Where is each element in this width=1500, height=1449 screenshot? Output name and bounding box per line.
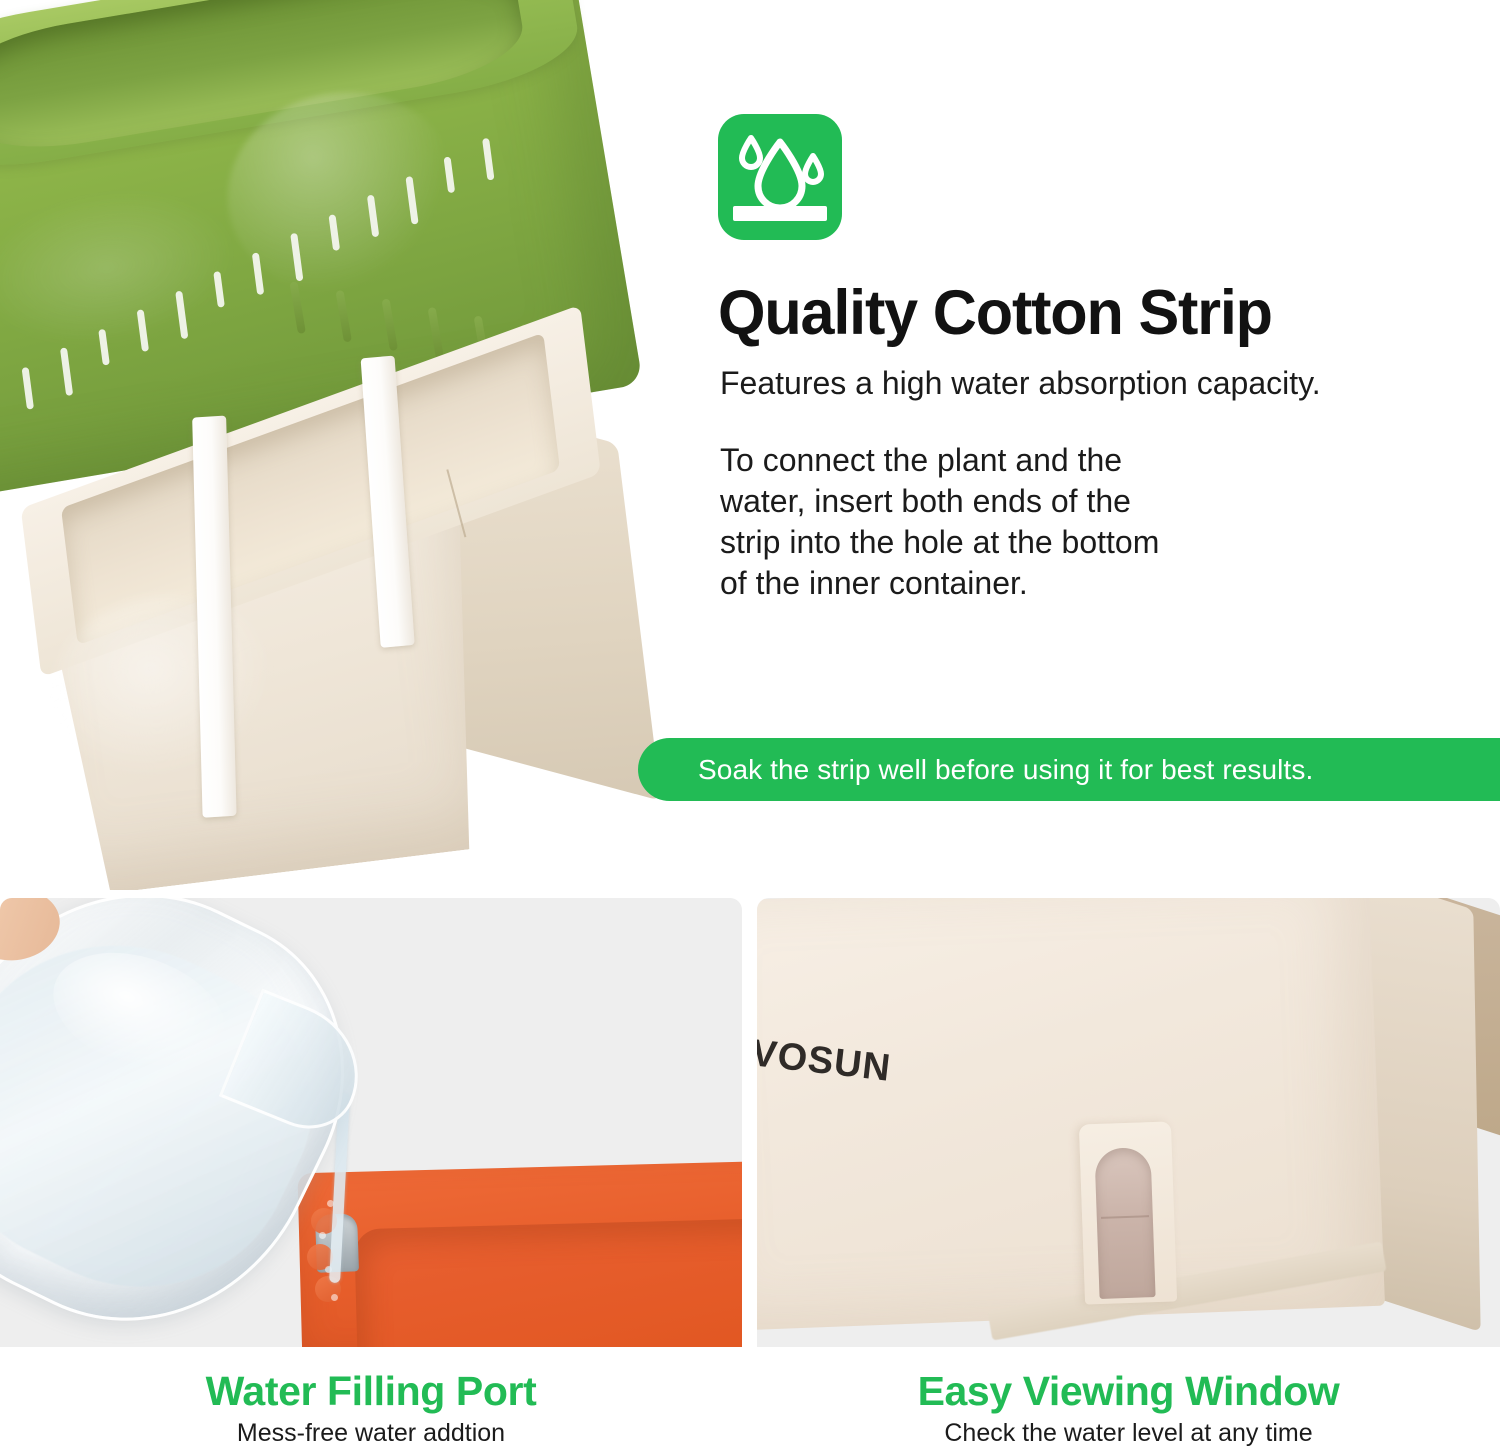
caption-subtitle: Check the water level at any time — [757, 1418, 1500, 1448]
cream-inner-container — [0, 309, 660, 890]
feature-body-text: To connect the plant and the water, inse… — [720, 440, 1280, 604]
product-photo-water-filling-port — [0, 898, 742, 1347]
vent-slot — [175, 290, 188, 339]
vent-slot — [252, 252, 264, 295]
vent-slot — [328, 214, 340, 251]
viewing-window-slot — [1094, 1147, 1155, 1299]
vent-slot — [137, 309, 149, 352]
caption-easy-viewing-window: Easy Viewing Window Check the water leve… — [757, 1368, 1500, 1448]
vent-slot — [482, 137, 494, 180]
caption-title: Water Filling Port — [0, 1368, 742, 1414]
caption-title: Easy Viewing Window — [757, 1368, 1500, 1414]
orange-planter-ribs — [305, 1198, 385, 1308]
caption-water-filling-port: Water Filling Port Mess-free water addti… — [0, 1368, 742, 1448]
product-photo-viewing-window: VOSUN — [757, 898, 1500, 1347]
water-droplet — [319, 1232, 326, 1239]
vent-slot — [213, 271, 225, 308]
vent-slot — [98, 328, 110, 365]
product-photo-top-left — [0, 0, 660, 890]
feature-title: Quality Cotton Strip — [718, 278, 1272, 348]
tip-banner-text: Soak the strip well before using it for … — [698, 754, 1313, 786]
orange-planter-inner-wall — [354, 1217, 742, 1347]
planter-ridge — [335, 290, 351, 343]
tip-banner: Soak the strip well before using it for … — [638, 738, 1500, 801]
vent-slot — [405, 176, 418, 225]
water-drops-icon — [718, 114, 842, 240]
planter-ridge — [289, 281, 305, 334]
vent-slot — [367, 195, 379, 238]
feature-subtitle: Features a high water absorption capacit… — [720, 362, 1321, 404]
vent-slot — [444, 157, 456, 194]
water-droplet — [331, 1294, 338, 1301]
caption-subtitle: Mess-free water addtion — [0, 1418, 742, 1448]
